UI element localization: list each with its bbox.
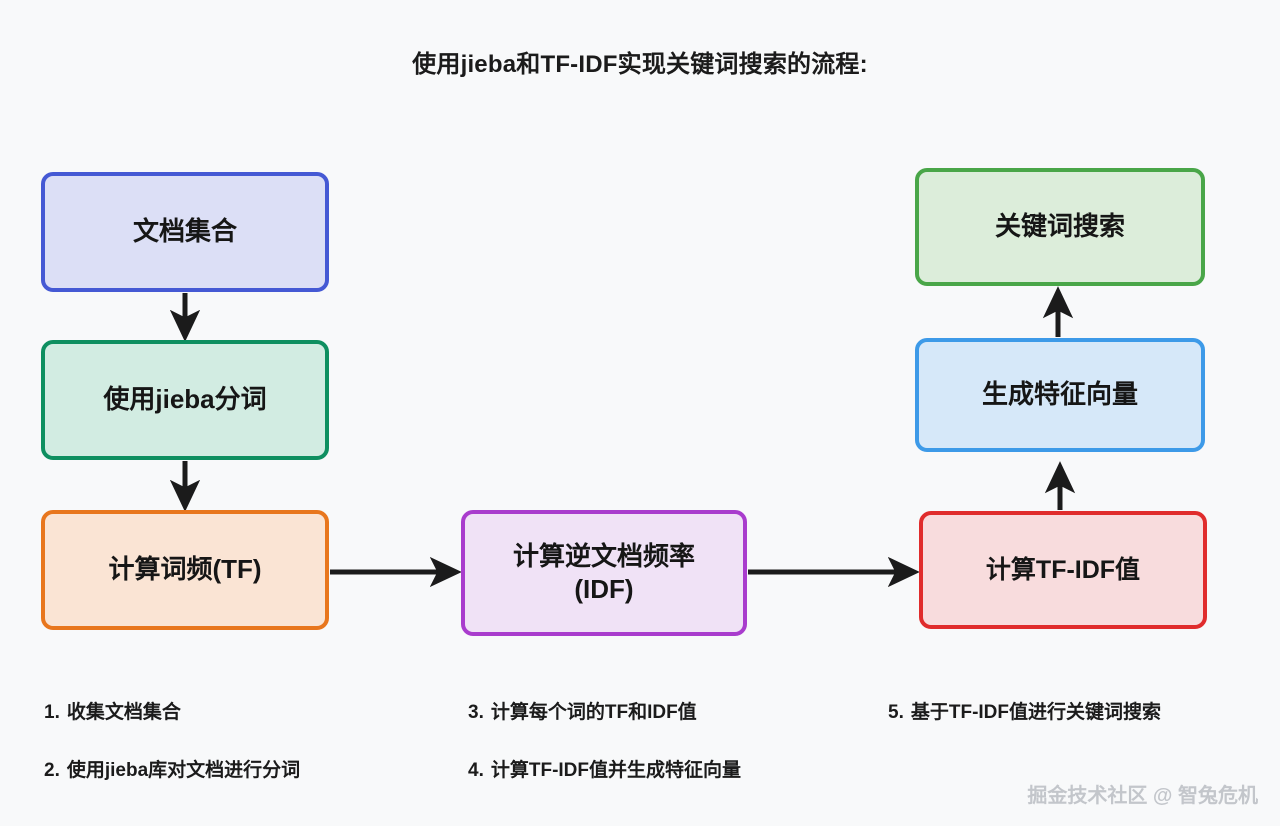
node-doc-collection[interactable]: 文档集合 <box>41 172 329 292</box>
node-keyword-search[interactable]: 关键词搜索 <box>915 168 1205 286</box>
legend-item: 3.计算每个词的TF和IDF值 <box>468 697 741 724</box>
legend-item: 5.基于TF-IDF值进行关键词搜索 <box>888 697 1161 724</box>
legend-column-1: 1.收集文档集合 2.使用jieba库对文档进行分词 <box>44 697 300 782</box>
node-calc-tfidf-label: 计算TF-IDF值 <box>986 554 1140 586</box>
legend-column-3: 5.基于TF-IDF值进行关键词搜索 <box>888 697 1161 724</box>
node-calc-tfidf[interactable]: 计算TF-IDF值 <box>919 511 1207 629</box>
node-feature-vector-label: 生成特征向量 <box>982 378 1138 411</box>
watermark: 掘金技术社区 @ 智兔危机 <box>1027 779 1258 808</box>
node-calc-idf[interactable]: 计算逆文档频率 (IDF) <box>461 510 747 636</box>
legend-item-number: 2. <box>44 760 60 781</box>
page-title: 使用jieba和TF-IDF实现关键词搜索的流程: <box>0 44 1280 79</box>
flowchart-canvas: 使用jieba和TF-IDF实现关键词搜索的流程: 文档集合 使用jieba分词… <box>0 0 1280 826</box>
node-doc-collection-label: 文档集合 <box>133 215 237 248</box>
legend-item: 1.收集文档集合 <box>44 697 300 724</box>
legend-item-number: 4. <box>468 760 484 781</box>
node-calc-idf-label: 计算逆文档频率 (IDF) <box>513 540 695 607</box>
node-calc-tf[interactable]: 计算词频(TF) <box>41 510 329 630</box>
legend-column-2: 3.计算每个词的TF和IDF值 4.计算TF-IDF值并生成特征向量 <box>468 697 741 782</box>
legend-item-number: 3. <box>468 702 484 723</box>
legend-item-text: 基于TF-IDF值进行关键词搜索 <box>911 702 1161 723</box>
node-feature-vector[interactable]: 生成特征向量 <box>915 338 1205 452</box>
node-calc-tf-label: 计算词频(TF) <box>108 553 261 586</box>
legend-item-text: 计算TF-IDF值并生成特征向量 <box>491 760 741 781</box>
node-keyword-search-label: 关键词搜索 <box>995 210 1125 243</box>
node-jieba-seg-label: 使用jieba分词 <box>103 383 266 416</box>
legend-item-number: 5. <box>888 702 904 723</box>
node-jieba-seg[interactable]: 使用jieba分词 <box>41 340 329 460</box>
legend-item: 4.计算TF-IDF值并生成特征向量 <box>468 755 741 782</box>
legend-item-text: 计算每个词的TF和IDF值 <box>491 702 697 723</box>
legend-item-text: 收集文档集合 <box>67 702 181 723</box>
legend-item-text: 使用jieba库对文档进行分词 <box>67 760 300 781</box>
legend-item-number: 1. <box>44 702 60 723</box>
legend-item: 2.使用jieba库对文档进行分词 <box>44 755 300 782</box>
